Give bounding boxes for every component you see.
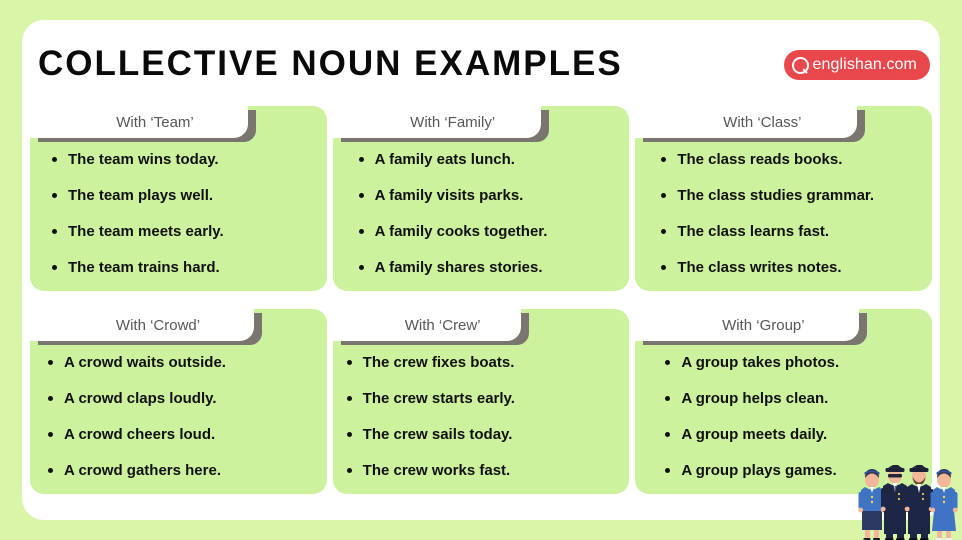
card-crew: With ‘Crew’ The crew fixes boats. The cr… — [333, 309, 630, 494]
list-item: The class reads books. — [661, 142, 922, 178]
card-tab: With ‘Family’ — [333, 106, 541, 138]
list-item: The crew starts early. — [347, 381, 620, 417]
card-list: A family eats lunch. A family visits par… — [333, 142, 630, 286]
card-tab-wrap: With ‘Group’ — [635, 309, 932, 345]
brand-badge[interactable]: englishan.com — [784, 50, 930, 80]
card-tab-wrap: With ‘Family’ — [333, 106, 630, 142]
content-panel: COLLECTIVE NOUN EXAMPLES englishan.com W… — [22, 20, 940, 520]
card-tab-wrap: With ‘Class’ — [635, 106, 932, 142]
list-item: The team plays well. — [52, 178, 317, 214]
card-team: With ‘Team’ The team wins today. The tea… — [30, 106, 327, 291]
list-item: The crew fixes boats. — [347, 345, 620, 381]
card-family: With ‘Family’ A family eats lunch. A fam… — [333, 106, 630, 291]
list-item: A family visits parks. — [359, 178, 620, 214]
cards-grid: With ‘Team’ The team wins today. The tea… — [30, 106, 932, 494]
card-header-label: With ‘Group’ — [678, 317, 817, 334]
list-item: The class writes notes. — [661, 250, 922, 286]
card-list: The class reads books. The class studies… — [635, 142, 932, 286]
card-header-label: With ‘Class’ — [679, 114, 813, 131]
card-header-label: With ‘Crowd’ — [72, 317, 212, 334]
card-list: A crowd waits outside. A crowd claps lou… — [30, 345, 327, 489]
list-item: A group helps clean. — [665, 381, 922, 417]
card-tab-wrap: With ‘Crowd’ — [30, 309, 327, 345]
card-tab-wrap: With ‘Crew’ — [333, 309, 630, 345]
card-tab: With ‘Team’ — [30, 106, 248, 138]
list-item: The class learns fast. — [661, 214, 922, 250]
list-item: The team wins today. — [52, 142, 317, 178]
list-item: The crew works fast. — [347, 453, 620, 489]
list-item: A group meets daily. — [665, 417, 922, 453]
card-list: The crew fixes boats. The crew starts ea… — [333, 345, 630, 489]
list-item: The team meets early. — [52, 214, 317, 250]
list-item: A crowd waits outside. — [48, 345, 317, 381]
card-group: With ‘Group’ A group takes photos. A gro… — [635, 309, 932, 494]
list-item: A family eats lunch. — [359, 142, 620, 178]
card-header-label: With ‘Team’ — [72, 114, 206, 131]
list-item: A family cooks together. — [359, 214, 620, 250]
search-icon — [792, 57, 809, 74]
card-header-label: With ‘Crew’ — [361, 317, 493, 334]
list-item: A group plays games. — [665, 453, 922, 489]
brand-name: englishan.com — [813, 56, 917, 74]
card-tab: With ‘Crew’ — [333, 309, 521, 341]
list-item: A family shares stories. — [359, 250, 620, 286]
list-item: The team trains hard. — [52, 250, 317, 286]
list-item: The class studies grammar. — [661, 178, 922, 214]
page-title: COLLECTIVE NOUN EXAMPLES — [38, 44, 623, 84]
list-item: A group takes photos. — [665, 345, 922, 381]
card-list: The team wins today. The team plays well… — [30, 142, 327, 286]
list-item: A crowd gathers here. — [48, 453, 317, 489]
card-list: A group takes photos. A group helps clea… — [635, 345, 932, 489]
list-item: The crew sails today. — [347, 417, 620, 453]
card-header-label: With ‘Family’ — [366, 114, 507, 131]
card-crowd: With ‘Crowd’ A crowd waits outside. A cr… — [30, 309, 327, 494]
card-class: With ‘Class’ The class reads books. The … — [635, 106, 932, 291]
list-item: A crowd claps loudly. — [48, 381, 317, 417]
header: COLLECTIVE NOUN EXAMPLES englishan.com — [22, 20, 940, 116]
list-item: A crowd cheers loud. — [48, 417, 317, 453]
card-tab: With ‘Crowd’ — [30, 309, 254, 341]
card-tab: With ‘Class’ — [635, 106, 857, 138]
card-tab: With ‘Group’ — [635, 309, 859, 341]
card-tab-wrap: With ‘Team’ — [30, 106, 327, 142]
